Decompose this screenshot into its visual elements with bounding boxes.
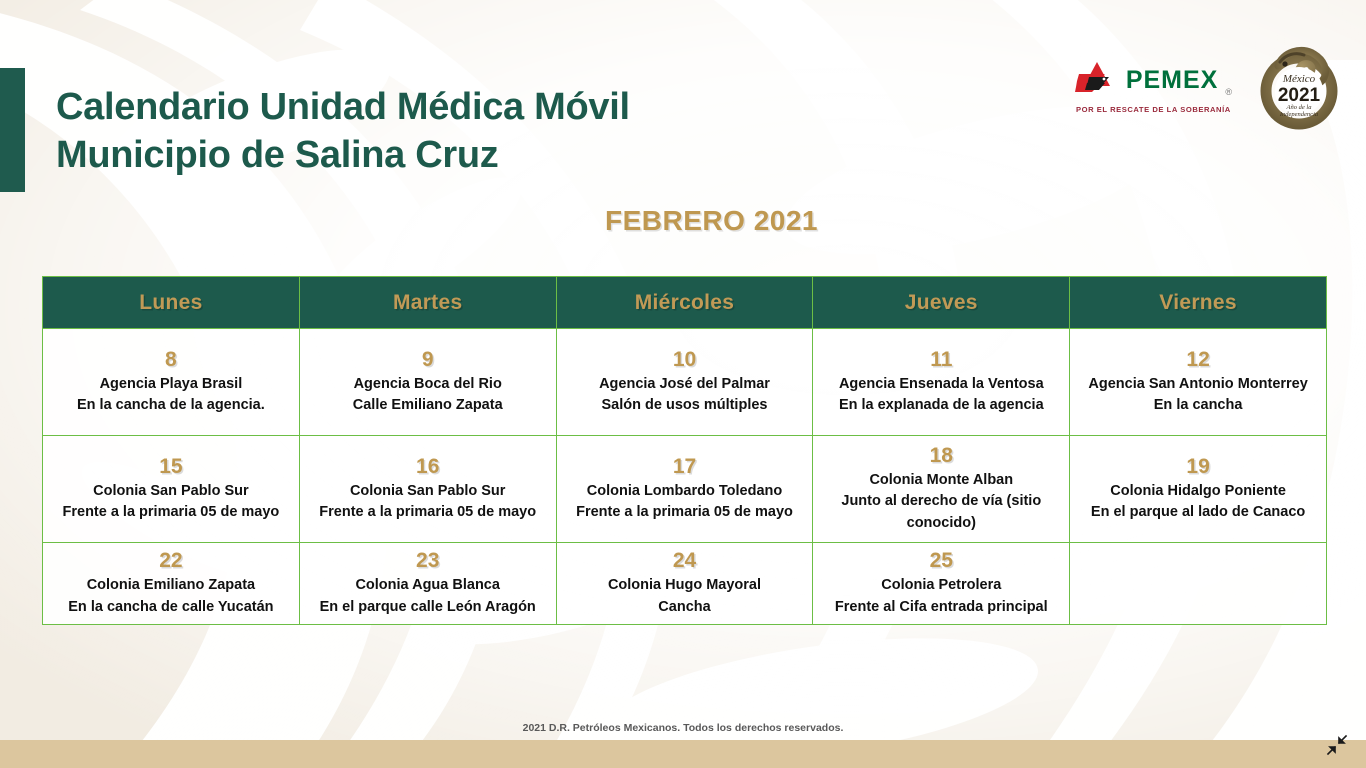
day-number: 23 [308,549,548,572]
day-detail: En la cancha de la agencia. [51,395,291,416]
calendar-week-row: 8 Agencia Playa Brasil En la cancha de l… [43,329,1327,436]
day-detail: En el parque al lado de Canaco [1078,502,1318,523]
column-header-viernes: Viernes [1070,277,1327,329]
day-location: Colonia Agua Blanca [308,575,548,596]
column-header-lunes: Lunes [43,277,300,329]
column-header-jueves: Jueves [813,277,1070,329]
calendar-table: Lunes Martes Miércoles Jueves Viernes 8 … [42,276,1327,625]
day-number: 19 [1078,455,1318,478]
day-detail: Frente a la primaria 05 de mayo [565,502,805,523]
bottom-strip [0,740,1366,768]
calendar-header-row: Lunes Martes Miércoles Jueves Viernes [43,277,1327,329]
page-title-line-2: Municipio de Salina Cruz [56,132,876,180]
day-cell[interactable]: 19 Colonia Hidalgo Poniente En el parque… [1070,436,1327,543]
svg-text:2021: 2021 [1278,85,1321,106]
day-number: 15 [51,455,291,478]
page-title-line-1: Calendario Unidad Médica Móvil [56,84,876,132]
day-number: 18 [821,444,1061,467]
svg-text:Independencia: Independencia [1279,111,1318,118]
day-cell[interactable]: 22 Colonia Emiliano Zapata En la cancha … [43,543,300,625]
day-cell[interactable]: 15 Colonia San Pablo Sur Frente a la pri… [43,436,300,543]
day-detail: En la explanada de la agencia [821,395,1061,416]
day-location: Colonia San Pablo Sur [51,481,291,502]
svg-text:Año de la: Año de la [1286,104,1312,111]
day-cell[interactable]: 10 Agencia José del Palmar Salón de usos… [556,329,813,436]
day-number: 24 [565,549,805,572]
pemex-logo-row: PEMEX ® [1075,61,1232,100]
day-detail: Junto al derecho de vía (sitio conocido) [821,491,1061,534]
day-number: 17 [565,455,805,478]
day-location: Colonia San Pablo Sur [308,481,548,502]
day-detail: En el parque calle León Aragón [308,597,548,618]
day-detail: En la cancha de calle Yucatán [51,597,291,618]
svg-text:México: México [1282,73,1316,85]
day-detail: Frente a la primaria 05 de mayo [51,502,291,523]
day-number: 22 [51,549,291,572]
day-number: 9 [308,348,548,371]
copyright-note: 2021 D.R. Petróleos Mexicanos. Todos los… [0,722,1366,734]
day-location: Colonia Emiliano Zapata [51,575,291,596]
day-location: Colonia Lombardo Toledano [565,481,805,502]
day-location: Colonia Petrolera [821,575,1061,596]
pemex-registered-mark: ® [1225,87,1232,97]
day-detail: En la cancha [1078,395,1318,416]
day-number: 12 [1078,348,1318,371]
day-location: Agencia José del Palmar [565,374,805,395]
day-number: 10 [565,348,805,371]
day-number: 8 [51,348,291,371]
day-cell-empty [1070,543,1327,625]
day-number: 11 [821,348,1061,371]
day-location: Colonia Monte Alban [821,470,1061,491]
slide-canvas: Calendario Unidad Médica Móvil Municipio… [0,0,1366,768]
column-header-martes: Martes [299,277,556,329]
day-cell[interactable]: 8 Agencia Playa Brasil En la cancha de l… [43,329,300,436]
day-cell[interactable]: 23 Colonia Agua Blanca En el parque call… [299,543,556,625]
day-number: 25 [821,549,1061,572]
day-cell[interactable]: 16 Colonia San Pablo Sur Frente a la pri… [299,436,556,543]
day-detail: Cancha [565,597,805,618]
pemex-wordmark: PEMEX [1126,68,1219,93]
day-number: 16 [308,455,548,478]
pemex-logo: PEMEX ® POR EL RESCATE DE LA SOBERANÍA [1075,61,1232,114]
column-header-miercoles: Miércoles [556,277,813,329]
day-detail: Frente al Cifa entrada principal [821,597,1061,618]
day-location: Agencia Playa Brasil [51,374,291,395]
exit-fullscreen-icon[interactable] [1326,734,1348,756]
day-cell[interactable]: 25 Colonia Petrolera Frente al Cifa entr… [813,543,1070,625]
left-accent-bar [0,68,25,192]
day-cell[interactable]: 12 Agencia San Antonio Monterrey En la c… [1070,329,1327,436]
pemex-eagle-icon [1075,61,1119,100]
month-heading: FEBRERO 2021 [0,205,818,237]
day-cell[interactable]: 24 Colonia Hugo Mayoral Cancha [556,543,813,625]
day-location: Colonia Hidalgo Poniente [1078,481,1318,502]
mexico-2021-seal: México 2021 Año de la Independencia [1258,44,1340,130]
day-cell[interactable]: 18 Colonia Monte Alban Junto al derecho … [813,436,1070,543]
day-cell[interactable]: 9 Agencia Boca del Rio Calle Emiliano Za… [299,329,556,436]
logo-group: PEMEX ® POR EL RESCATE DE LA SOBERANÍA M… [1075,44,1340,130]
calendar-week-row: 22 Colonia Emiliano Zapata En la cancha … [43,543,1327,625]
day-location: Agencia Ensenada la Ventosa [821,374,1061,395]
day-detail: Calle Emiliano Zapata [308,395,548,416]
day-location: Agencia San Antonio Monterrey [1078,374,1318,395]
pemex-tagline: POR EL RESCATE DE LA SOBERANÍA [1076,105,1231,114]
day-detail: Frente a la primaria 05 de mayo [308,502,548,523]
day-cell[interactable]: 17 Colonia Lombardo Toledano Frente a la… [556,436,813,543]
day-location: Agencia Boca del Rio [308,374,548,395]
day-cell[interactable]: 11 Agencia Ensenada la Ventosa En la exp… [813,329,1070,436]
day-location: Colonia Hugo Mayoral [565,575,805,596]
day-detail: Salón de usos múltiples [565,395,805,416]
page-title: Calendario Unidad Médica Móvil Municipio… [56,84,876,180]
calendar-week-row: 15 Colonia San Pablo Sur Frente a la pri… [43,436,1327,543]
